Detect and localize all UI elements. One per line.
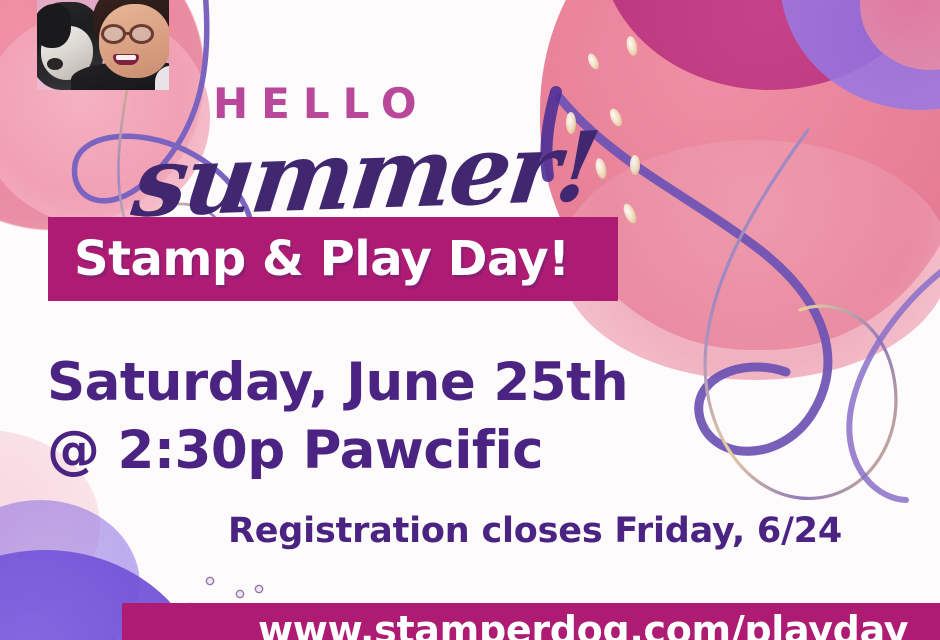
bubble-dot [236, 590, 244, 598]
gold-fleck [607, 107, 624, 128]
registration-deadline-text: Registration closes Friday, 6/24 [228, 511, 842, 551]
eyeglass-left [101, 24, 126, 44]
website-url-text[interactable]: www.stamperdog.com/playday [258, 608, 908, 640]
flyer-canvas: HELLO summer! Stamp & Play Day! Saturday… [0, 0, 940, 640]
eyeglass-right [129, 24, 154, 44]
title-banner: Stamp & Play Day! [48, 217, 618, 301]
watercolor-blob-magenta-top [600, 0, 940, 90]
event-time-location-line: @ 2:30p Pawcific [47, 420, 543, 481]
gold-swirl-right [705, 130, 896, 498]
presenter-teeth [116, 55, 136, 60]
watercolor-blob-purple-bottom-left-2 [0, 500, 140, 640]
gold-fleck [630, 155, 640, 175]
banner-title-text: Stamp & Play Day! [48, 231, 570, 287]
gold-fleck [625, 35, 639, 57]
gold-fleck [586, 52, 601, 71]
eyeglass-bridge [125, 32, 132, 35]
bubble-dot [255, 585, 263, 593]
dog-ear [37, 4, 71, 48]
watercolor-blob-violet-top-right [780, 0, 940, 110]
bubble-dot [206, 577, 214, 585]
purple-arc-bottom-right [849, 268, 940, 500]
event-date-line: Saturday, June 25th [47, 352, 628, 413]
watercolor-blob-pink-corner [860, 0, 940, 70]
presenter-photo-inset[interactable] [37, 0, 169, 90]
dog-nose [47, 58, 63, 70]
gold-fleck [621, 202, 639, 225]
